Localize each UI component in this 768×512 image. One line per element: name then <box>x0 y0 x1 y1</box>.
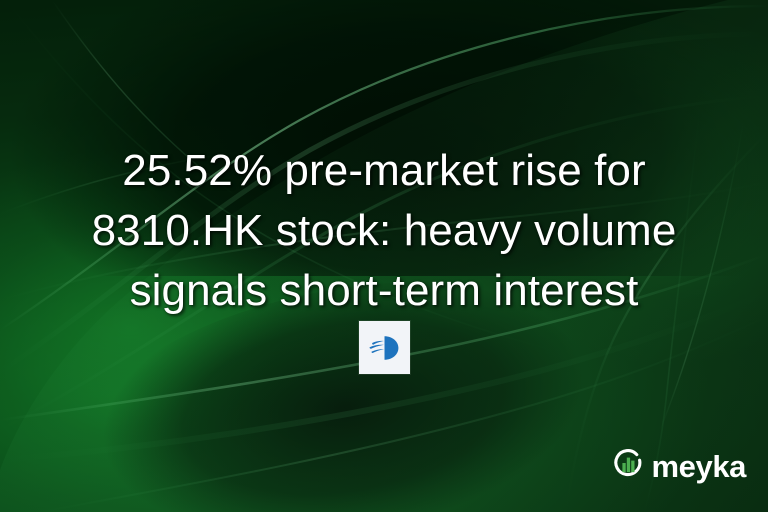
meyka-bars-circle-icon <box>611 447 645 486</box>
headline: 25.52% pre-market rise for 8310.HK stock… <box>0 141 768 321</box>
brand-logo: meyka <box>611 447 746 486</box>
wave-disc-icon <box>367 335 403 361</box>
headline-line-1: 25.52% pre-market rise for <box>28 141 740 201</box>
share-card: 25.52% pre-market rise for 8310.HK stock… <box>0 0 768 512</box>
headline-line-3: signals short-term interest <box>28 261 740 321</box>
center-favicon-tile <box>359 321 410 374</box>
headline-line-2: 8310.HK stock: heavy volume <box>28 201 740 261</box>
brand-wordmark: meyka <box>651 451 746 482</box>
